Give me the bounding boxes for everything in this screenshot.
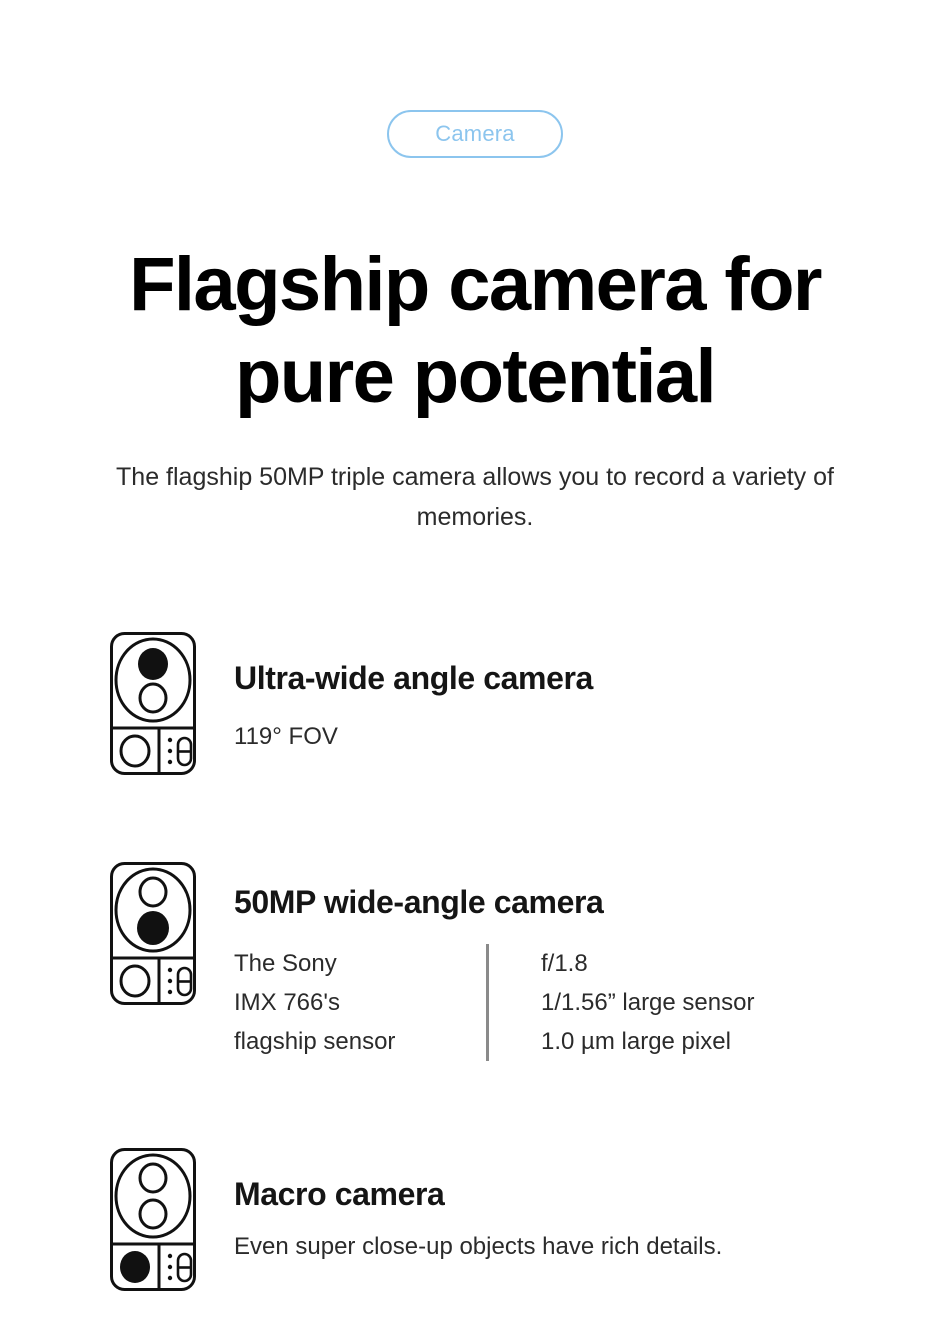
camera-module-ultrawide-icon bbox=[110, 632, 196, 775]
feature-title: Macro camera bbox=[234, 1148, 934, 1214]
spec-line: 1.0 µm large pixel bbox=[541, 1022, 934, 1061]
spec-line: 1/1.56” large sensor bbox=[541, 983, 934, 1022]
spec-columns: The Sony IMX 766's flagship sensor f/1.8… bbox=[234, 944, 934, 1061]
spec-line: f/1.8 bbox=[541, 944, 934, 983]
page-title: Flagship camera for pure potential bbox=[50, 239, 900, 423]
camera-module-wide-icon bbox=[110, 862, 196, 1005]
feature-subtitle: Even super close-up objects have rich de… bbox=[234, 1214, 934, 1266]
feature-title: Ultra-wide angle camera bbox=[234, 632, 934, 698]
feature-body-ultrawide: Ultra-wide angle camera 119° FOV bbox=[234, 632, 934, 756]
feature-title: 50MP wide-angle camera bbox=[234, 862, 934, 922]
badge-container: Camera bbox=[0, 110, 950, 158]
spec-line: The Sony bbox=[234, 944, 486, 983]
feature-body-macro: Macro camera Even super close-up objects… bbox=[234, 1148, 934, 1266]
feature-body-wide: 50MP wide-angle camera The Sony IMX 766'… bbox=[234, 862, 934, 1061]
camera-module-macro-icon bbox=[110, 1148, 196, 1291]
spec-line: flagship sensor bbox=[234, 1022, 486, 1061]
spec-column-left: The Sony IMX 766's flagship sensor bbox=[234, 944, 486, 1061]
camera-badge[interactable]: Camera bbox=[387, 110, 563, 158]
spec-line: IMX 766's bbox=[234, 983, 486, 1022]
feature-subtitle: 119° FOV bbox=[234, 698, 934, 756]
spec-column-right: f/1.8 1/1.56” large sensor 1.0 µm large … bbox=[541, 944, 934, 1061]
page-subtitle: The flagship 50MP triple camera allows y… bbox=[75, 457, 875, 537]
spec-divider bbox=[486, 944, 489, 1061]
